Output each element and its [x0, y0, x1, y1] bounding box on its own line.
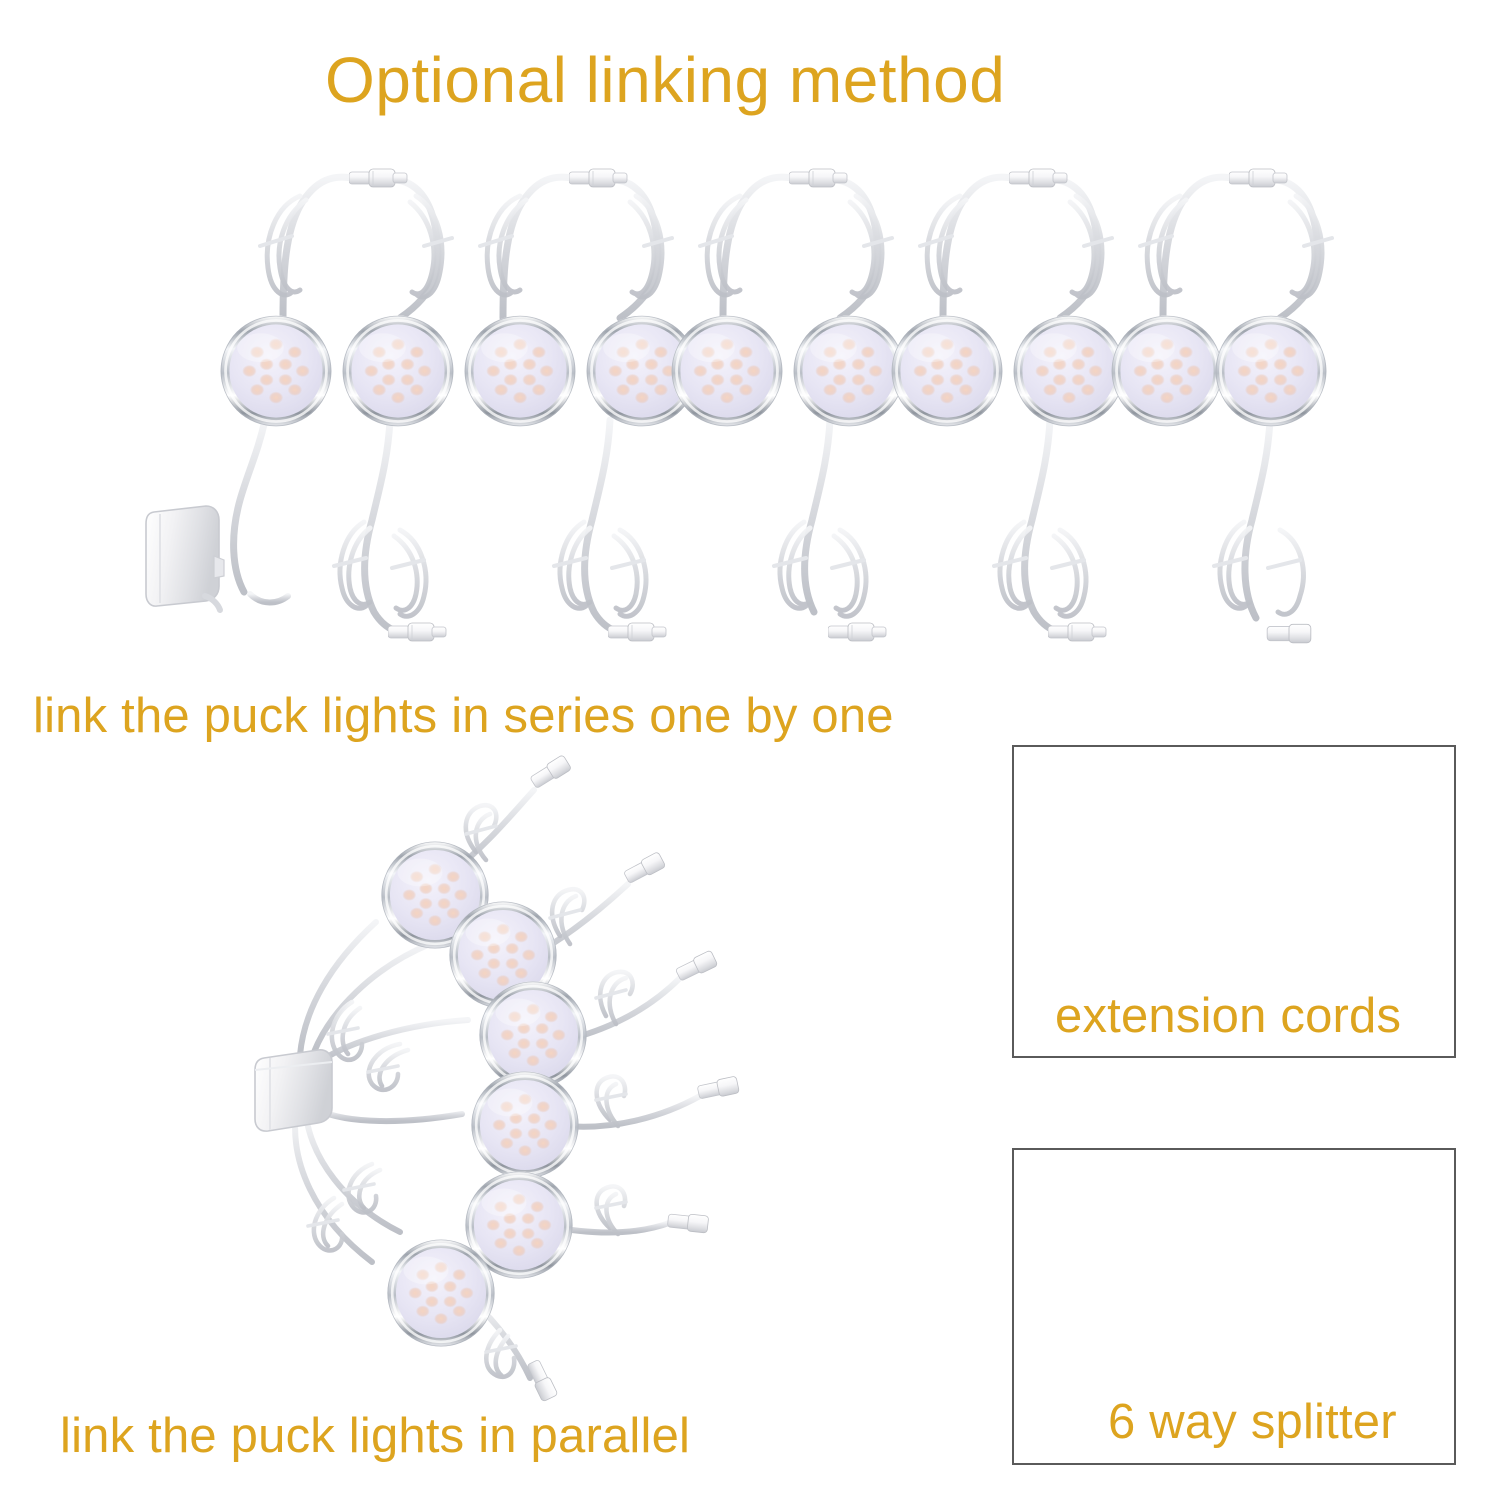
puck-light-icon	[221, 316, 332, 427]
puck-light-row	[221, 316, 1327, 427]
puck-light-icon	[587, 316, 698, 427]
puck-light-icon	[471, 1071, 578, 1178]
parallel-linking-diagram	[255, 755, 739, 1402]
puck-light-icon	[1112, 316, 1223, 427]
cable-connector-icon	[349, 169, 1287, 187]
puck-light-icon	[465, 316, 576, 427]
puck-light-icon	[892, 316, 1003, 427]
series-linking-diagram	[146, 169, 1332, 643]
puck-light-icon	[343, 316, 454, 427]
cable-connector-icon	[525, 755, 739, 1402]
caption-series: link the puck lights in series one by on…	[33, 692, 894, 741]
puck-light-fan	[381, 841, 586, 1346]
splitter-hub-icon	[255, 1050, 332, 1131]
cable-connector-icon	[388, 623, 1311, 643]
power-adapter-icon	[146, 506, 224, 610]
puck-light-icon	[1216, 316, 1327, 427]
puck-light-icon	[794, 316, 905, 427]
puck-light-icon	[387, 1239, 494, 1346]
puck-light-icon	[672, 316, 783, 427]
puck-light-icon	[465, 1171, 572, 1278]
puck-light-icon	[479, 981, 586, 1088]
label-six-way-splitter: 6 way splitter	[1108, 1398, 1397, 1447]
label-extension-cords: extension cords	[1055, 992, 1401, 1041]
page-title: Optional linking method	[325, 48, 1005, 112]
puck-light-icon	[449, 901, 556, 1008]
caption-parallel: link the puck lights in parallel	[60, 1412, 690, 1461]
infographic-canvas: Optional linking method	[0, 0, 1500, 1500]
puck-light-icon	[381, 841, 488, 948]
puck-light-icon	[1014, 316, 1125, 427]
